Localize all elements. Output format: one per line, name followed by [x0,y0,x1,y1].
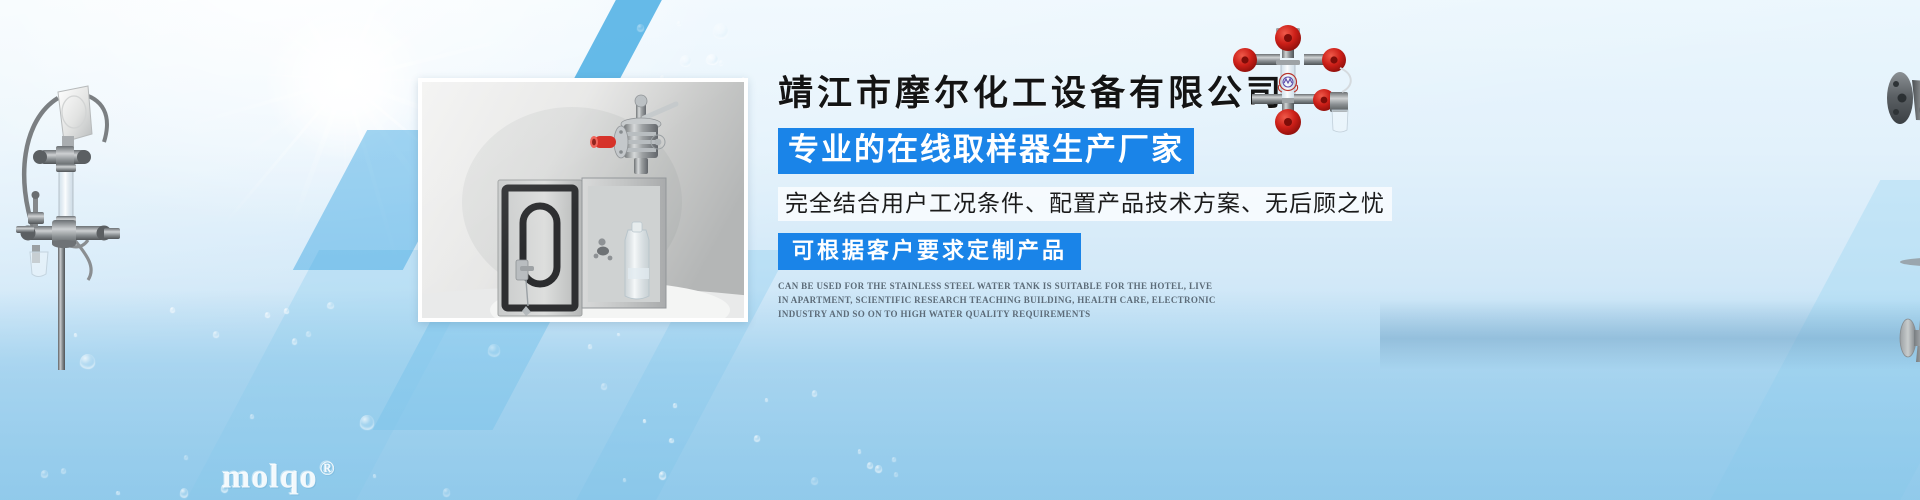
water-droplet [811,477,818,484]
registered-mark: ® [320,458,336,480]
water-droplet [669,438,674,442]
water-droplet [894,472,898,476]
water-droplet [637,24,644,31]
water-droplet [867,462,873,468]
water-droplet [250,414,254,418]
lever-valve-product-image [1878,26,1920,161]
left-sampler-device-image [8,30,208,370]
sun-ray [187,0,346,81]
custom-order-badge: 可根据客户要求定制产品 [778,233,1081,270]
cross-valve-product-image [1212,22,1372,142]
sun-ray [344,80,346,200]
water-droplet [892,457,896,461]
sun-ray [344,0,351,80]
water-droplet [327,302,334,308]
sun-ray [229,78,347,166]
water-droplet [360,415,374,429]
water-droplet [443,488,450,496]
water-droplet [588,344,592,348]
sun-ray [343,79,400,266]
water-droplet [677,21,681,25]
water-droplet [617,333,620,335]
sun-core [265,0,425,160]
sun-ray [343,0,410,81]
water-droplet [284,308,289,313]
water-droplet [306,331,311,336]
water-droplet [61,468,66,473]
watermark-brand: molqo [222,458,318,495]
water-droplet [213,331,219,337]
sun-ray [344,0,466,81]
water-droplet [292,338,297,344]
water-droplet [623,478,626,481]
water-droplet [680,55,691,66]
water-droplet [116,491,120,494]
water-droplet [812,390,817,396]
water-droplet [765,398,768,401]
water-droplet [659,471,666,479]
sun-ray [289,79,347,228]
water-droplet [184,455,188,459]
horizon-line [1380,300,1920,370]
water-droplet [875,465,882,472]
sun-ray [343,0,472,82]
water-droplet [41,470,48,477]
water-droplet [673,403,677,407]
water-droplet [706,54,718,64]
center-product-photo [418,78,748,322]
sub-headline: 完全结合用户工况条件、配置产品技术方案、无后顾之忧 [778,187,1392,221]
water-droplet [643,419,646,422]
sun-ray [265,0,347,82]
water-droplet [601,383,607,389]
flanged-sampling-valve-image [1880,228,1920,398]
water-droplet [488,344,500,356]
water-droplet [180,488,188,497]
water-droplet [713,23,728,38]
sun-ray [219,79,346,230]
water-droplet [858,449,861,453]
water-droplet [754,435,760,441]
english-caption: CAN BE USED FOR THE STAINLESS STEEL WATE… [778,279,1218,321]
brand-watermark: molqo® [222,458,336,496]
sun-ray [220,70,345,81]
sun-ray [287,0,347,81]
water-droplet [373,474,376,477]
promo-banner: 靖江市摩尔化工设备有限公司 专业的在线取样器生产厂家 完全结合用户工况条件、配置… [0,0,1920,500]
sun-ray [190,28,346,83]
sun-ray [345,33,528,82]
water-droplet [719,60,723,65]
water-droplet [265,312,270,317]
headline-badge: 专业的在线取样器生产厂家 [778,128,1194,174]
